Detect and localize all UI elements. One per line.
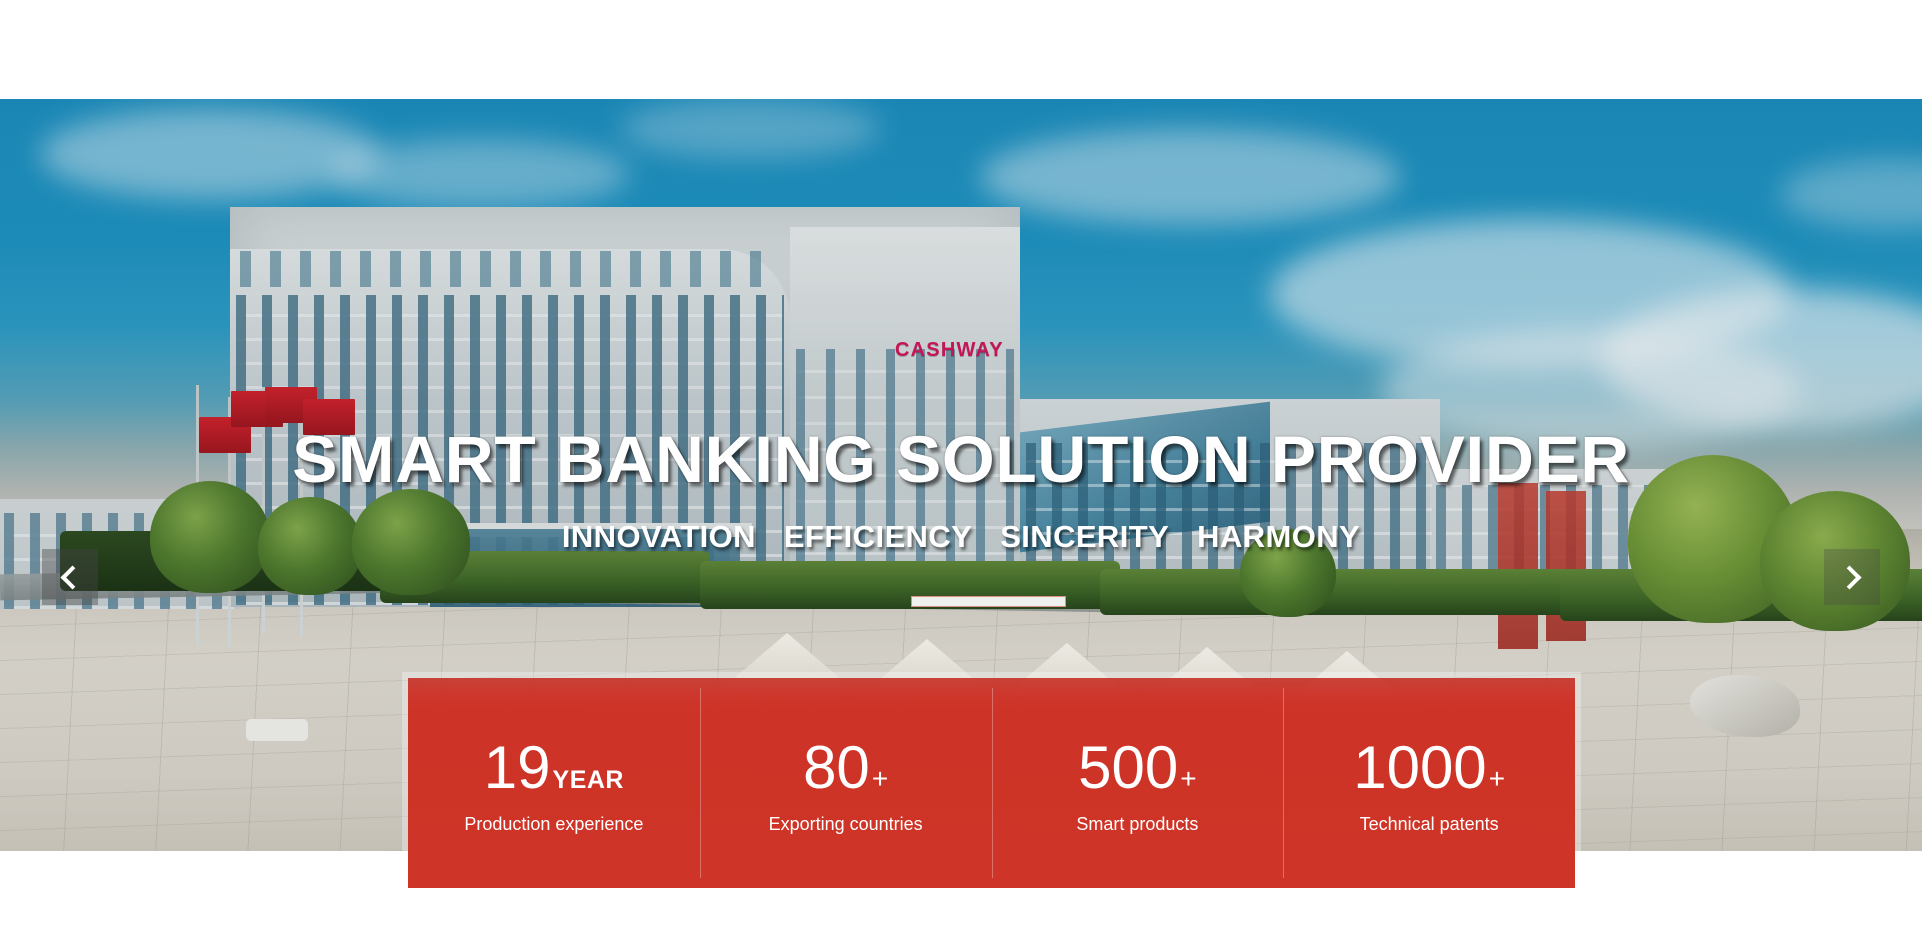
- stat-item: 19YEARProduction experience: [408, 678, 700, 888]
- stat-number: 19YEAR: [484, 738, 624, 798]
- chevron-left-icon: [60, 565, 84, 589]
- stat-number-suffix: +: [1180, 765, 1196, 793]
- hero-headline: SMART BANKING SOLUTION PROVIDER: [0, 421, 1922, 497]
- stat-number-suffix: +: [872, 765, 888, 793]
- stat-number-value: 80: [803, 738, 870, 798]
- hero-value-innovation: INNOVATION: [562, 519, 756, 554]
- stat-number-value: 500: [1078, 738, 1178, 798]
- stat-number-suffix: +: [1489, 765, 1505, 793]
- chevron-right-icon: [1837, 565, 1861, 589]
- stat-item: 80+Exporting countries: [700, 678, 992, 888]
- stats-bar: 19YEARProduction experience80+Exporting …: [408, 678, 1575, 888]
- stat-number: 500+: [1078, 738, 1196, 798]
- stat-label: Smart products: [1076, 814, 1198, 835]
- page-root: CASHWAY: [0, 0, 1922, 950]
- hero-value-sincerity: SINCERITY: [1000, 519, 1169, 554]
- stat-item: 500+Smart products: [992, 678, 1284, 888]
- stat-item: 1000+Technical patents: [1283, 678, 1575, 888]
- stat-label: Production experience: [464, 814, 643, 835]
- stat-number: 80+: [803, 738, 888, 798]
- top-white-band: [0, 0, 1922, 99]
- stat-label: Technical patents: [1360, 814, 1499, 835]
- hero-value-efficiency: EFFICIENCY: [784, 519, 972, 554]
- carousel-next-button[interactable]: [1824, 549, 1880, 605]
- stat-number-value: 1000: [1353, 738, 1486, 798]
- hero-subheadline: INNOVATIONEFFICIENCYSINCERITYHARMONY: [0, 519, 1922, 555]
- stat-number-value: 19: [484, 738, 551, 798]
- stat-label: Exporting countries: [769, 814, 923, 835]
- hero-value-harmony: HARMONY: [1197, 519, 1360, 554]
- slide-pagination-indicator[interactable]: [911, 596, 1066, 607]
- carousel-prev-button[interactable]: [42, 549, 98, 605]
- stat-number: 1000+: [1353, 738, 1505, 798]
- stat-number-suffix: YEAR: [553, 768, 624, 793]
